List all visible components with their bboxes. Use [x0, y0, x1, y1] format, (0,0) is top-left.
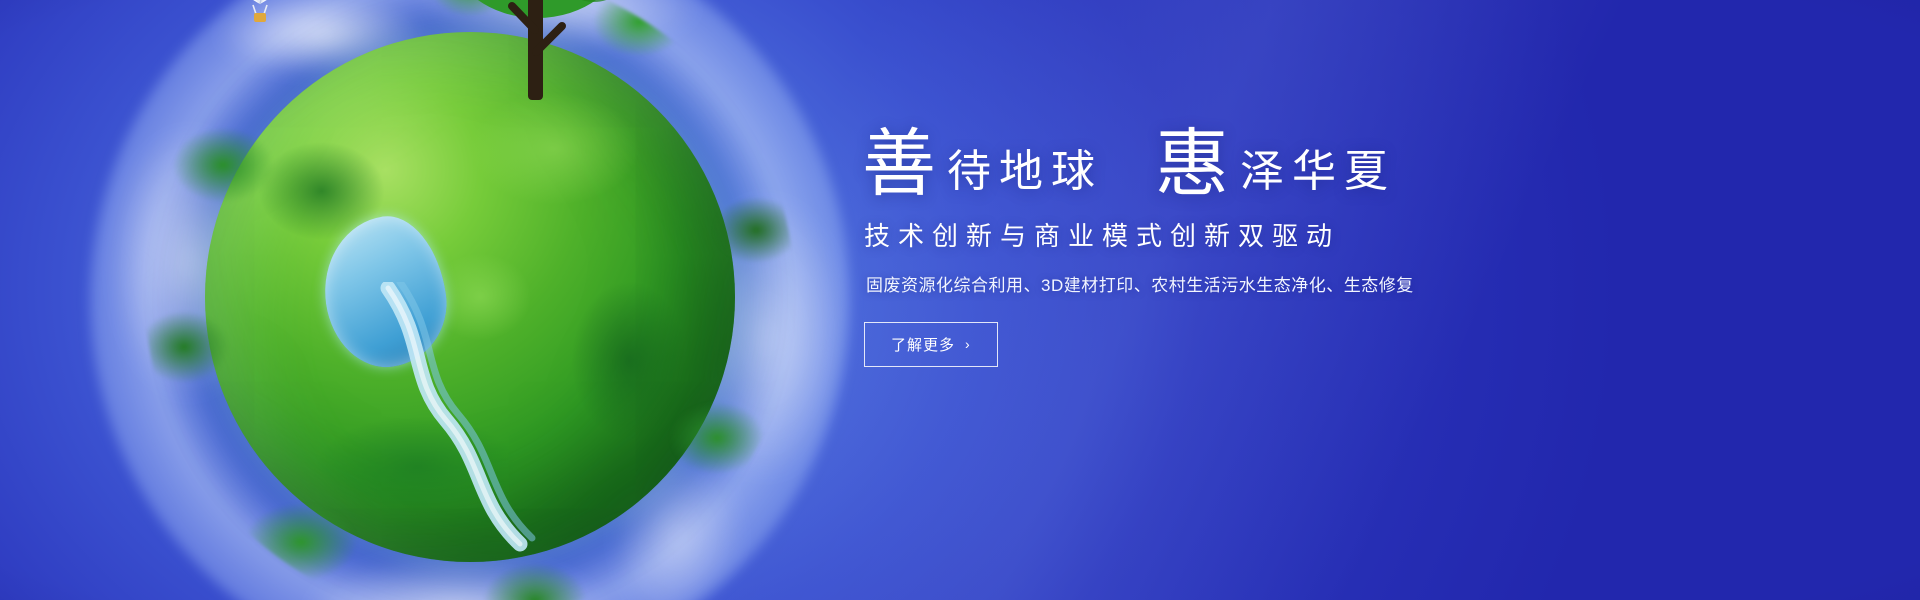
chevron-right-icon: › — [965, 337, 971, 351]
banner-description: 固废资源化综合利用、3D建材打印、农村生活污水生态净化、生态修复 — [866, 271, 1842, 296]
headline-part2-small: 泽华夏 — [1230, 150, 1396, 202]
learn-more-button[interactable]: 了解更多 › — [864, 322, 998, 367]
learn-more-label: 了解更多 — [891, 334, 955, 355]
hero-banner: 善 待地球 惠 泽华夏 技术创新与商业模式创新双驱动 固废资源化综合利用、3D建… — [0, 0, 1920, 600]
flying-birds-icon — [560, 0, 710, 6]
large-tree-icon — [442, 0, 632, 100]
headline-part1-big: 善 — [862, 128, 937, 202]
banner-subtitle: 技术创新与商业模式创新双驱动 — [864, 216, 1842, 253]
globe-illustration — [90, 0, 850, 600]
headline-part2-big: 惠 — [1155, 128, 1230, 202]
banner-headline: 善 待地球 惠 泽华夏 — [862, 128, 1842, 202]
banner-content: 善 待地球 惠 泽华夏 技术创新与商业模式创新双驱动 固废资源化综合利用、3D建… — [862, 128, 1842, 367]
headline-part1-small: 待地球 — [937, 150, 1103, 202]
hot-air-balloon-icon — [234, 0, 286, 24]
